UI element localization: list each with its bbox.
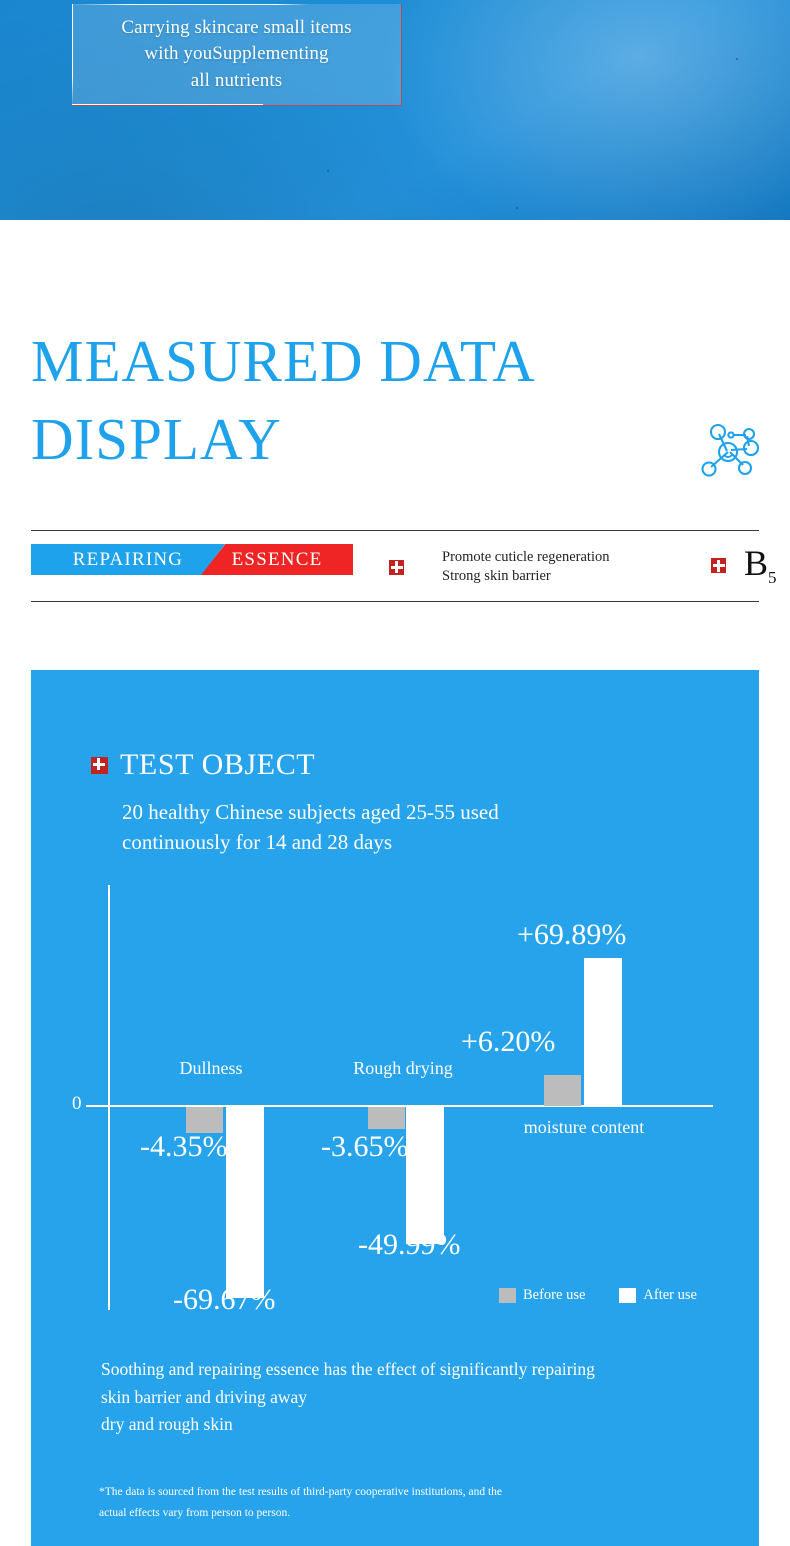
page-title-line-2: DISPLAY <box>31 411 731 467</box>
bar-after-moisture-content <box>584 958 622 1106</box>
chart-zero-tick-label: 0 <box>72 1093 82 1115</box>
red-cross-square-icon <box>389 560 404 575</box>
hero-banner: Carrying skincare small items with youSu… <box>0 0 790 220</box>
pill-repairing: REPAIRING <box>31 544 225 575</box>
vitamin-b5-label: B5 <box>744 545 777 586</box>
vitamin-block: B5 <box>711 545 777 586</box>
legend-label-before-use: Before use <box>523 1287 585 1304</box>
legend-item-before-use: Before use <box>499 1287 585 1304</box>
value-label-after-rough-drying: -49.99% <box>358 1228 460 1262</box>
summary-line-2: skin barrier and driving away <box>101 1384 751 1412</box>
value-label-before-rough-drying: -3.65% <box>321 1130 408 1164</box>
bar-after-dullness <box>226 1107 264 1298</box>
claim-text: Promote cuticle regeneration Strong skin… <box>442 548 610 587</box>
data-disclaimer: *The data is sourced from the test resul… <box>99 1482 719 1525</box>
value-major-before-dullness: -4.35% <box>140 1130 227 1163</box>
hero-caption-box: Carrying skincare small items with youSu… <box>72 4 402 106</box>
chart-legend: Before use After use <box>499 1287 697 1304</box>
legend-item-after-use: After use <box>619 1287 697 1304</box>
value-major-after-rough-drying: -49.99% <box>358 1228 460 1261</box>
chart-group-label-moisture-content: moisture content <box>509 1117 659 1139</box>
data-panel: TEST OBJECT 20 healthy Chinese subjects … <box>31 670 759 1546</box>
summary-line-3: dry and rough skin <box>101 1411 751 1439</box>
molecule-icon <box>697 419 763 485</box>
product-type-pill: REPAIRING ESSENCE <box>31 544 353 575</box>
page-title-line-1: MEASURED DATA <box>31 333 731 389</box>
summary-line-1: Soothing and repairing essence has the e… <box>101 1356 751 1384</box>
hero-caption-line-2: with youSupplementing <box>121 41 351 68</box>
page-title: MEASURED DATA DISPLAY <box>31 333 731 467</box>
vitamin-letter: B <box>744 543 768 583</box>
chart-y-axis <box>108 885 110 1310</box>
hero-caption-text: Carrying skincare small items with youSu… <box>121 15 351 95</box>
claim-block: Promote cuticle regeneration Strong skin… <box>389 548 610 587</box>
red-cross-square-icon <box>711 558 726 573</box>
hero-caption-line-1: Carrying skincare small items <box>121 15 351 42</box>
hero-caption-line-3: all nutrients <box>121 68 351 95</box>
legend-swatch-after-use <box>619 1288 636 1303</box>
results-summary: Soothing and repairing essence has the e… <box>101 1356 751 1439</box>
disclaimer-line-2: actual effects vary from person to perso… <box>99 1503 719 1524</box>
claims-bar: REPAIRING ESSENCE Promote cuticle regene… <box>31 530 759 602</box>
value-label-after-dullness: -69.67% <box>173 1283 275 1317</box>
legend-swatch-before-use <box>499 1288 516 1303</box>
claim-line-1: Promote cuticle regeneration <box>442 549 610 565</box>
claim-line-2: Strong skin barrier <box>442 568 551 584</box>
value-label-after-moisture-content: +69.89% <box>517 918 626 952</box>
value-major-before-rough-drying: -3.65% <box>321 1130 408 1163</box>
bar-after-rough-drying <box>406 1107 444 1244</box>
chart-group-label-dullness: Dullness <box>151 1058 271 1080</box>
texture-speck <box>736 58 738 60</box>
pill-essence: ESSENCE <box>201 544 353 575</box>
legend-label-after-use: After use <box>643 1287 697 1304</box>
value-label-before-dullness: -4.35% <box>140 1130 227 1164</box>
value-label-before-moisture-content: +6.20% <box>461 1025 555 1059</box>
texture-speck <box>327 170 329 172</box>
bar-before-moisture-content <box>544 1075 581 1106</box>
hero-box-top-border <box>72 4 401 5</box>
texture-speck <box>516 207 518 209</box>
value-major-after-moisture-content: +69.89% <box>517 918 626 951</box>
disclaimer-line-1: *The data is sourced from the test resul… <box>99 1482 719 1503</box>
value-major-after-dullness: -69.67% <box>173 1283 275 1316</box>
value-major-before-moisture-content: +6.20% <box>461 1025 555 1058</box>
vitamin-subscript: 5 <box>768 568 777 587</box>
chart-group-label-rough-drying: Rough drying <box>328 1058 478 1080</box>
bar-before-rough-drying <box>368 1107 405 1129</box>
